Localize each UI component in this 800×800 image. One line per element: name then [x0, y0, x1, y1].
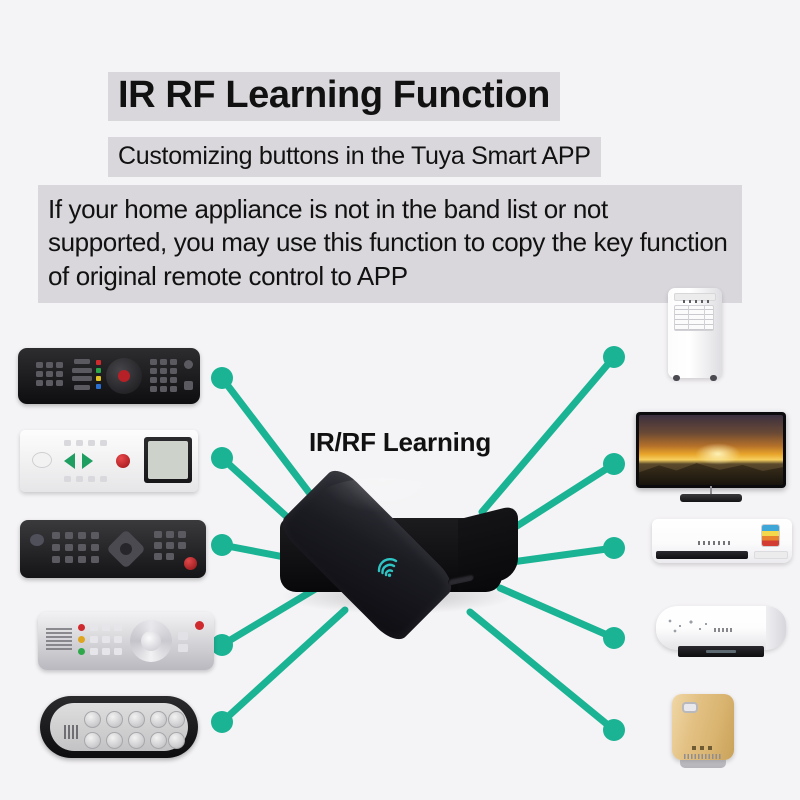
- air-purifier-grill: [684, 754, 722, 759]
- remote-oval: [40, 696, 198, 758]
- remote-stb-dpad: [106, 529, 146, 569]
- remote-ac-display: [144, 437, 192, 483]
- remote-oval-panel: [50, 703, 188, 751]
- water-heater-pattern: [666, 618, 710, 634]
- air-purifier-handle: [682, 702, 698, 713]
- split-ac-body: [652, 519, 792, 563]
- water-heater-control-panel: [678, 646, 764, 657]
- television: [636, 412, 786, 504]
- remote-oval-body: [40, 696, 198, 758]
- tv-bezel: [636, 412, 786, 488]
- split-air-conditioner: [652, 519, 792, 563]
- connector-dot: [603, 346, 625, 368]
- split-ac-side-panel: [754, 551, 788, 559]
- connector-dot: [603, 627, 625, 649]
- portable-air-conditioner: [668, 288, 722, 378]
- air-purifier-body: [672, 694, 734, 760]
- connector-dot: [211, 367, 233, 389]
- remote-stb-body: [20, 520, 206, 578]
- remote-ac: [20, 430, 198, 492]
- air-purifier: [672, 690, 734, 772]
- split-ac-louver: [656, 551, 748, 559]
- remote-uni-navigation-ring: [130, 620, 172, 662]
- connector-dot: [211, 534, 233, 556]
- connector-dot: [211, 447, 233, 469]
- hub-gloss-highlight: [322, 478, 442, 512]
- water-heater-end-cap: [766, 606, 786, 650]
- energy-rating-label: [762, 525, 779, 546]
- tv-stand-base: [680, 494, 742, 502]
- connector-dot: [603, 453, 625, 475]
- remote-stb: [20, 520, 206, 578]
- remote-uni-logo: [46, 628, 72, 650]
- remote-ac-power-button: [116, 454, 130, 468]
- remote-tv: [18, 348, 200, 404]
- water-heater: [656, 606, 786, 660]
- remote-uni: [38, 612, 214, 670]
- connector-dot: [603, 719, 625, 741]
- portable-ac-control-panel: [674, 293, 716, 301]
- tv-sunset-glow: [695, 443, 741, 465]
- remote-uni-body: [38, 612, 214, 670]
- connector-dot: [211, 634, 233, 656]
- remote-ac-body: [20, 430, 198, 492]
- tv-screen: [639, 415, 783, 485]
- product-infographic: IR RF Learning Function Customizing butt…: [0, 0, 800, 800]
- portable-ac-vent: [674, 305, 714, 331]
- split-ac-brand: [698, 541, 732, 545]
- water-heater-brand: [714, 628, 734, 632]
- water-heater-tank: [656, 606, 786, 650]
- remote-oval-logo: [64, 725, 80, 739]
- connector-dot: [603, 537, 625, 559]
- ir-rf-hub-device: [262, 466, 532, 631]
- remote-uni-power-button: [195, 621, 204, 630]
- connector-dot: [211, 711, 233, 733]
- wifi-icon: [374, 554, 404, 578]
- remote-tv-dpad: [106, 358, 142, 394]
- air-purifier-indicators: [692, 746, 714, 750]
- portable-ac-body: [668, 288, 722, 378]
- remote-tv-body: [18, 348, 200, 404]
- remote-stb-power-button: [184, 557, 197, 570]
